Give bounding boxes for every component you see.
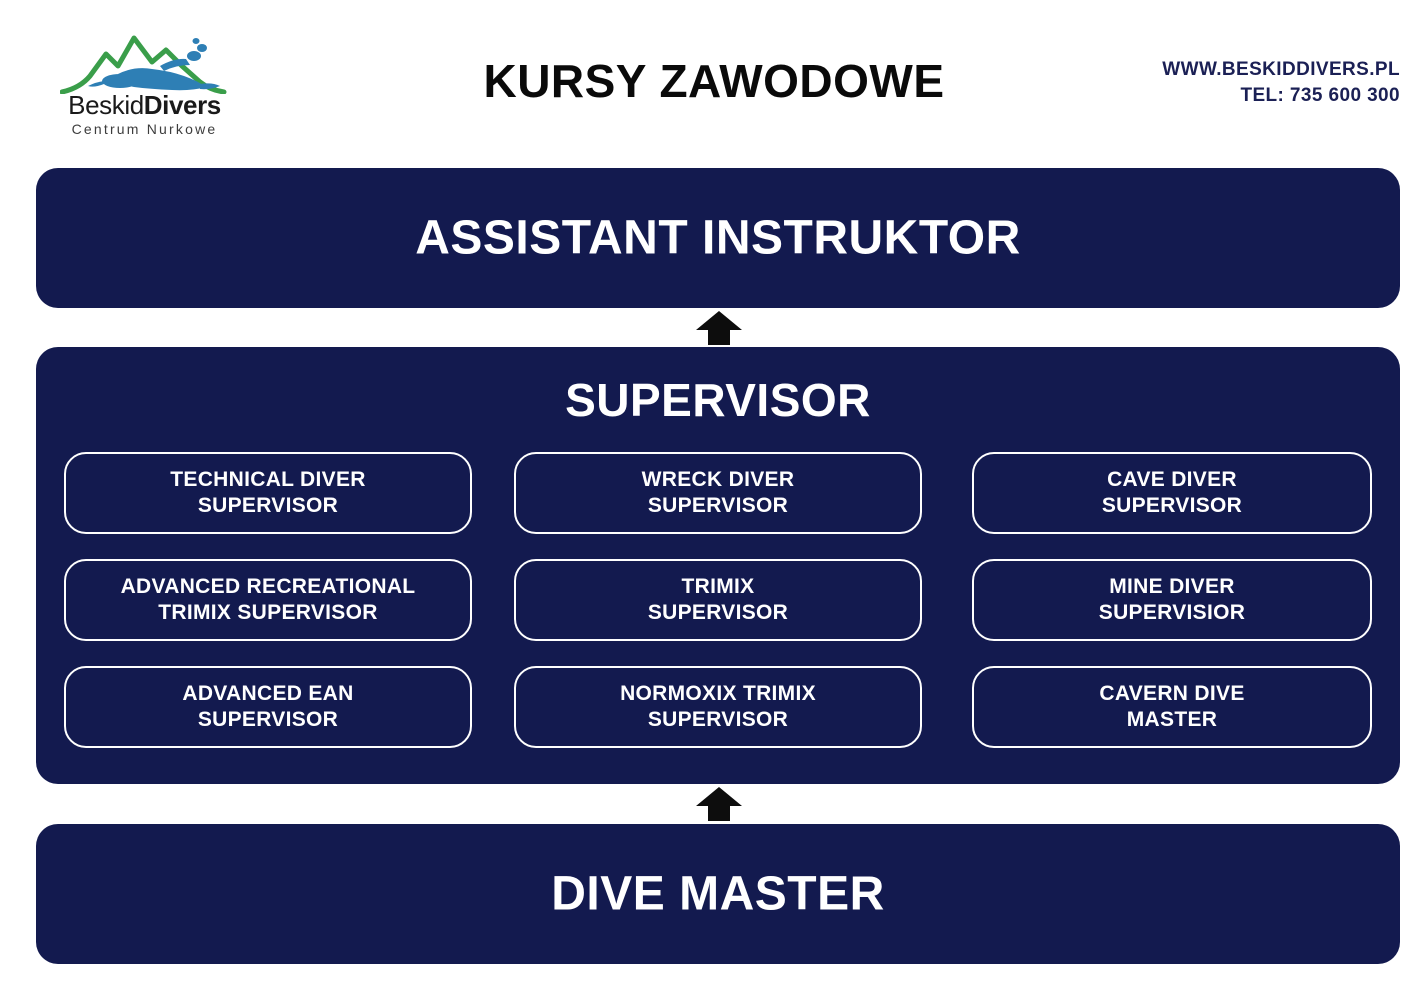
cert-line-1: TECHNICAL DIVER xyxy=(170,468,365,491)
cert-wreck-diver-supervisor[interactable]: WRECK DIVER SUPERVISOR xyxy=(514,452,922,534)
career-path-diagram: BeskidDivers Centrum Nurkowe KURSY ZAWOD… xyxy=(0,0,1428,1000)
cert-line-1: ADVANCED RECREATIONAL xyxy=(121,575,416,598)
cert-line-1: CAVERN DIVE xyxy=(1099,682,1244,705)
cert-technical-diver-supervisor[interactable]: TECHNICAL DIVER SUPERVISOR xyxy=(64,452,472,534)
arrow-up-icon-divemaster-to-supervisor xyxy=(695,786,743,822)
level-supervisor-label: SUPERVISOR xyxy=(36,373,1400,427)
level-supervisor: SUPERVISOR TECHNICAL DIVER SUPERVISOR WR… xyxy=(36,347,1400,784)
arrow-up-icon-supervisor-to-assistant xyxy=(695,310,743,346)
cert-normoxix-trimix-supervisor[interactable]: NORMOXIX TRIMIX SUPERVISOR xyxy=(514,666,922,748)
cert-line-1: TRIMIX xyxy=(681,575,754,598)
cert-line-2: SUPERVISIOR xyxy=(1099,601,1245,624)
cert-line-1: MINE DIVER xyxy=(1109,575,1235,598)
cert-line-2: MASTER xyxy=(1127,708,1217,731)
level-dive-master: DIVE MASTER xyxy=(36,824,1400,964)
website-text: WWW.BESKIDDIVERS.PL xyxy=(1162,57,1400,83)
cert-line-2: SUPERVISOR xyxy=(648,601,788,624)
cert-line-2: SUPERVISOR xyxy=(1102,494,1242,517)
level-dive-master-label: DIVE MASTER xyxy=(36,867,1400,922)
cert-trimix-supervisor[interactable]: TRIMIX SUPERVISOR xyxy=(514,559,922,641)
cert-line-2: SUPERVISOR xyxy=(648,708,788,731)
cert-line-1: ADVANCED EAN xyxy=(182,682,353,705)
level-assistant-instruktor-label: ASSISTANT INSTRUKTOR xyxy=(36,211,1400,266)
contact-info: WWW.BESKIDDIVERS.PL TEL: 735 600 300 xyxy=(1162,57,1400,108)
cert-cavern-dive-master[interactable]: CAVERN DIVE MASTER xyxy=(972,666,1372,748)
cert-mine-diver-supervisior[interactable]: MINE DIVER SUPERVISIOR xyxy=(972,559,1372,641)
cert-line-2: SUPERVISOR xyxy=(648,494,788,517)
cert-line-2: SUPERVISOR xyxy=(198,708,338,731)
cert-line-1: NORMOXIX TRIMIX xyxy=(620,682,816,705)
cert-advanced-ean-supervisor[interactable]: ADVANCED EAN SUPERVISOR xyxy=(64,666,472,748)
level-assistant-instruktor: ASSISTANT INSTRUKTOR xyxy=(36,168,1400,308)
supervisor-certification-grid: TECHNICAL DIVER SUPERVISOR WRECK DIVER S… xyxy=(64,452,1372,748)
cert-advanced-recreational-trimix-supervisor[interactable]: ADVANCED RECREATIONAL TRIMIX SUPERVISOR xyxy=(64,559,472,641)
logo-subtitle: Centrum Nurkowe xyxy=(52,121,237,137)
header: BeskidDivers Centrum Nurkowe KURSY ZAWOD… xyxy=(0,0,1428,160)
cert-line-2: SUPERVISOR xyxy=(198,494,338,517)
cert-line-2: TRIMIX SUPERVISOR xyxy=(158,601,377,624)
cert-cave-diver-supervisor[interactable]: CAVE DIVER SUPERVISOR xyxy=(972,452,1372,534)
phone-text: TEL: 735 600 300 xyxy=(1162,83,1400,109)
cert-line-1: CAVE DIVER xyxy=(1107,468,1237,491)
cert-line-1: WRECK DIVER xyxy=(642,468,795,491)
